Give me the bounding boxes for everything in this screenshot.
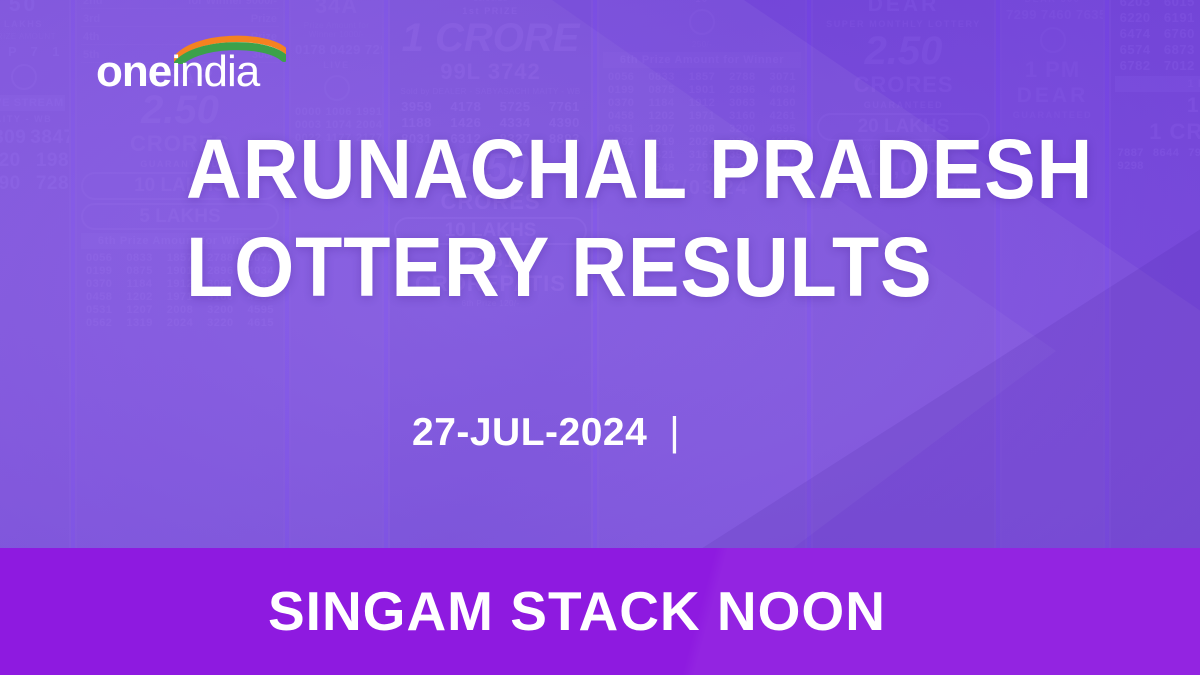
draw-name: SINGAM STACK NOON bbox=[268, 584, 886, 639]
draw-name-banner: SINGAM STACK NOON bbox=[0, 548, 1200, 675]
page-title: ARUNACHAL PRADESH LOTTERY RESULTS bbox=[186, 128, 1066, 309]
title-line-state: ARUNACHAL PRADESH bbox=[186, 128, 996, 210]
oneindia-logo[interactable]: oneindia bbox=[96, 30, 296, 94]
logo-word-india: india bbox=[171, 47, 259, 96]
lottery-result-poster: 50 LAKHS PRIZE AMOUNT 6P71 LIVE STREAM A… bbox=[0, 0, 1200, 675]
draw-date: 27-JUL-2024 bbox=[412, 413, 647, 452]
draw-date-row: 27-JUL-2024 | bbox=[412, 412, 680, 452]
date-separator: | bbox=[669, 412, 679, 452]
logo-wordmark: oneindia bbox=[96, 50, 259, 94]
logo-word-one: one bbox=[96, 47, 171, 96]
title-line-subject: LOTTERY RESULTS bbox=[186, 226, 996, 308]
